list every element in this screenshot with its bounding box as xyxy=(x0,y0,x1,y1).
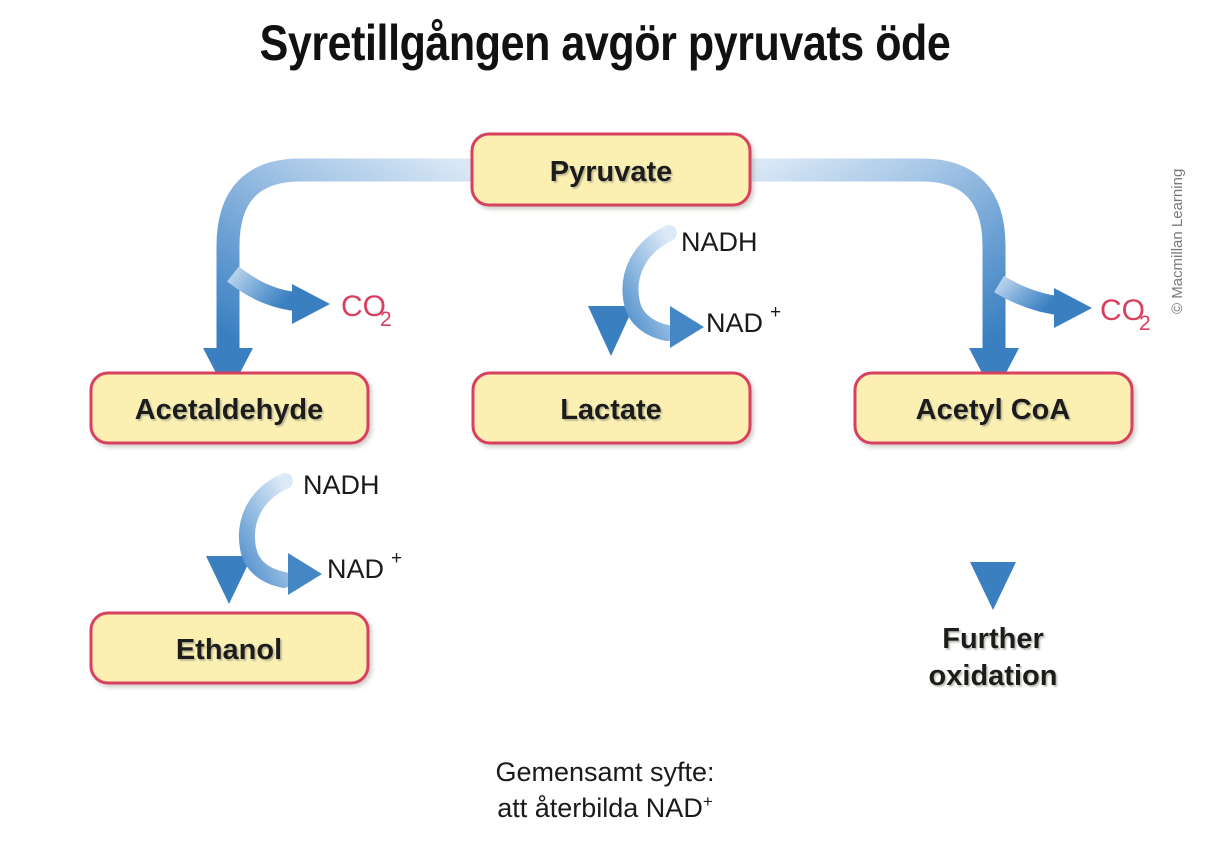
edge-acetyl-coa-to-further-oxidation xyxy=(970,443,1016,610)
caption-line-2-superscript: + xyxy=(703,792,713,811)
label-further-oxidation: Further oxidation xyxy=(929,623,1058,692)
label-nad-plus-ethanol: NAD + xyxy=(327,548,402,584)
nad-lactate-superscript: + xyxy=(770,302,781,323)
ethanol-label: Ethanol xyxy=(176,634,282,666)
caption-line-1: Gemensamt syfte: xyxy=(0,754,1210,790)
acetyl-coa-label: Acetyl CoA xyxy=(916,394,1071,426)
pyruvate-label: Pyruvate xyxy=(550,156,673,188)
acetaldehyde-label: Acetaldehyde xyxy=(135,394,324,426)
nadh-ethanol-text: NADH xyxy=(303,470,380,500)
pathway-flowchart: CO 2 Acetaldehyde NADH NAD + Et xyxy=(0,0,1210,842)
node-lactate[interactable]: Lactate xyxy=(473,373,750,443)
caption-block: Gemensamt syfte: att återbilda NAD+ xyxy=(0,754,1210,826)
page-title: Syretillgången avgör pyruvats öde xyxy=(85,14,1126,72)
nadh-lactate-text: NADH xyxy=(681,227,758,257)
nad-lactate-text: NAD xyxy=(706,308,763,338)
node-acetyl-coa[interactable]: Acetyl CoA xyxy=(855,373,1132,443)
node-pyruvate[interactable]: Pyruvate xyxy=(472,134,750,205)
lactate-label: Lactate xyxy=(560,394,662,426)
label-nad-plus-lactate: NAD + xyxy=(706,302,781,338)
caption-line-2: att återbilda NAD+ xyxy=(0,790,1210,826)
edge-pyruvate-to-acetyl-coa xyxy=(750,170,1019,396)
label-nadh-ethanol: NADH xyxy=(303,470,380,500)
further-oxidation-line1: Further xyxy=(942,623,1044,655)
nad-ethanol-text: NAD xyxy=(327,554,384,584)
label-co2-right: CO 2 xyxy=(1100,294,1151,335)
co2-left-subscript: 2 xyxy=(380,308,392,331)
co2-right-subscript: 2 xyxy=(1139,312,1151,335)
copyright-text: © Macmillan Learning xyxy=(1169,114,1186,314)
node-ethanol[interactable]: Ethanol xyxy=(91,613,368,683)
further-oxidation-line2: oxidation xyxy=(929,660,1058,692)
edge-co2-release-right xyxy=(999,284,1092,328)
node-acetaldehyde[interactable]: Acetaldehyde xyxy=(91,373,368,443)
label-co2-left: CO 2 xyxy=(341,290,392,331)
nad-ethanol-superscript: + xyxy=(391,548,402,569)
copyright-notice: © Macmillan Learning xyxy=(1163,0,1180,120)
edge-co2-release-left xyxy=(233,274,330,324)
diagram-canvas: Syretillgången avgör pyruvats öde xyxy=(0,0,1210,842)
label-nadh-lactate: NADH xyxy=(681,227,758,257)
caption-line-2-text: att återbilda NAD xyxy=(497,793,703,823)
